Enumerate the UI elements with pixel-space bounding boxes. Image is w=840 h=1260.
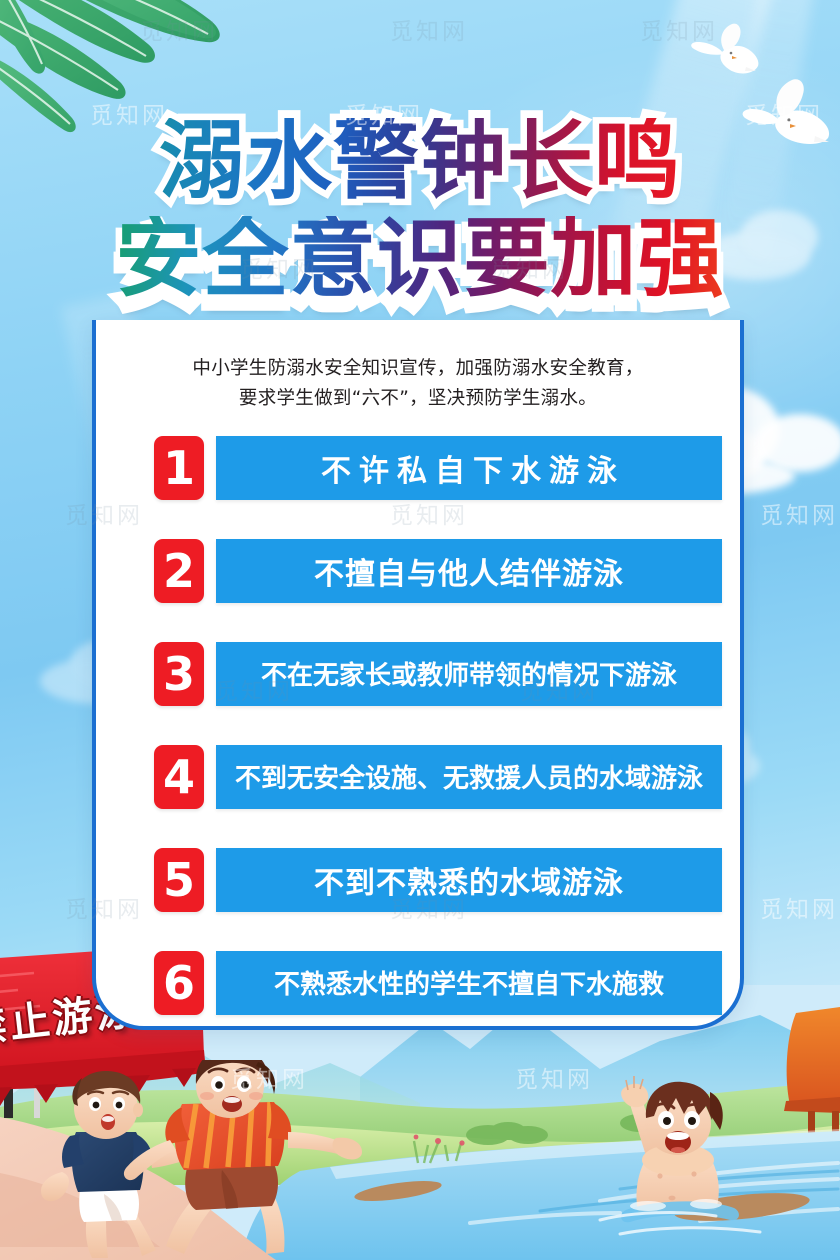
list-item-text: 不到不熟悉的水域游泳 (216, 848, 722, 912)
six-nots-list: 1 不许私自下水游泳 2 不擅自与他人结伴游泳 3 不在无家长或教师带领的情况下… (96, 436, 740, 1015)
list-item-text: 不许私自下水游泳 (216, 436, 722, 500)
list-item-number: 1 (154, 436, 204, 500)
poster-canvas: 禁止游泳 (0, 0, 840, 1260)
intro-line2: 要求学生做到“六不”，坚决预防学生溺水。 (148, 384, 688, 414)
dove-icon (688, 22, 762, 78)
list-item-number: 5 (154, 848, 204, 912)
children-illustration (0, 1060, 840, 1260)
list-item-number: 6 (154, 951, 204, 1015)
list-item[interactable]: 6 不熟悉水性的学生不擅自下水施救 (154, 951, 740, 1015)
palm-leaf-decoration (0, 0, 270, 138)
list-item[interactable]: 1 不许私自下水游泳 (154, 436, 740, 500)
list-item[interactable]: 5 不到不熟悉的水域游泳 (154, 848, 740, 912)
intro-text: 中小学生防溺水安全知识宣传，加强防溺水安全教育， 要求学生做到“六不”，坚决预防… (148, 354, 688, 414)
list-item-number: 4 (154, 745, 204, 809)
list-item-number: 3 (154, 642, 204, 706)
list-item-text: 不熟悉水性的学生不擅自下水施救 (216, 951, 722, 1015)
list-item[interactable]: 3 不在无家长或教师带领的情况下游泳 (154, 642, 740, 706)
content-card: 中小学生防溺水安全知识宣传，加强防溺水安全教育， 要求学生做到“六不”，坚决预防… (92, 320, 744, 1030)
list-item[interactable]: 4 不到无安全设施、无救援人员的水域游泳 (154, 745, 740, 809)
child-orange-shirt (124, 1060, 362, 1254)
list-item-text: 不在无家长或教师带领的情况下游泳 (216, 642, 722, 706)
intro-line1: 中小学生防溺水安全知识宣传，加强防溺水安全教育， (148, 354, 688, 384)
list-item-number: 2 (154, 539, 204, 603)
list-item-text: 不擅自与他人结伴游泳 (216, 539, 722, 603)
list-item[interactable]: 2 不擅自与他人结伴游泳 (154, 539, 740, 603)
dove-icon (742, 78, 834, 146)
list-item-text: 不到无安全设施、无救援人员的水域游泳 (216, 745, 722, 809)
drowning-child (600, 1076, 760, 1234)
